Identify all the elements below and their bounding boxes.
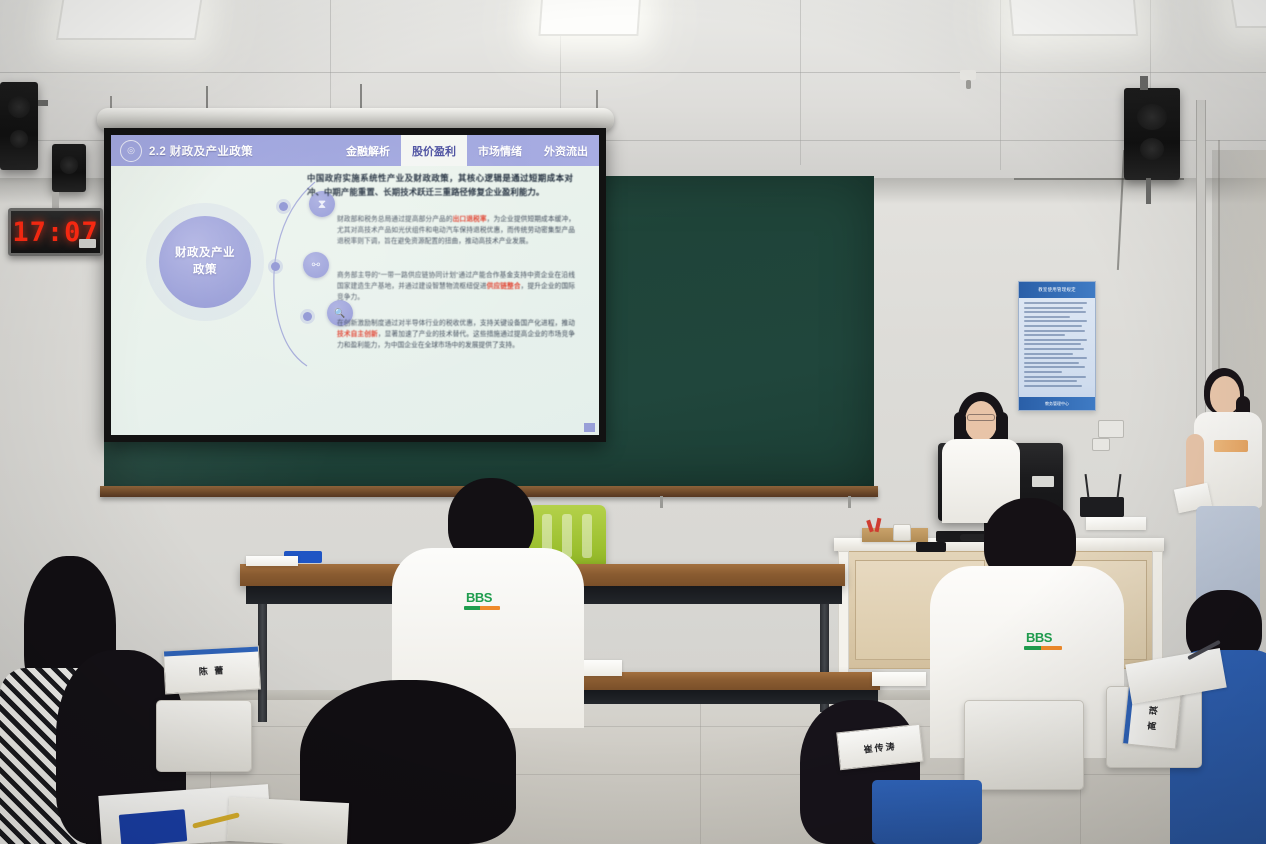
presenter-glasses-icon bbox=[967, 414, 995, 421]
chair-back-right[interactable] bbox=[964, 700, 1084, 790]
bbs-logo-underline bbox=[464, 606, 500, 610]
wall-speaker-left bbox=[0, 82, 38, 170]
name-card-left: 陈 蕾 bbox=[163, 646, 261, 695]
name-card-left-text: 陈 蕾 bbox=[198, 663, 225, 677]
notice-board-text-lines bbox=[1019, 298, 1095, 393]
para2-highlight: 供应链整合 bbox=[487, 283, 521, 290]
foreground-blue-book bbox=[119, 809, 188, 844]
name-card-center-text: 崔传涛 bbox=[863, 739, 897, 755]
center-circle-line2: 政策 bbox=[193, 264, 217, 276]
notice-board-footer: 教务管理中心 bbox=[1019, 397, 1095, 410]
para3-pre: 在创新激励制度通过对半导体行业的税收优惠，支持关键设备国产化进程，推动 bbox=[337, 320, 575, 327]
bbs-logo-underline bbox=[1024, 646, 1062, 650]
desk-paper bbox=[872, 672, 926, 686]
wall-speaker-right bbox=[1124, 88, 1180, 180]
bbs-logo-text: BBS bbox=[1026, 630, 1052, 645]
slide-logo-icon: ◎ bbox=[120, 140, 142, 162]
ceiling-light-panel bbox=[1229, 0, 1266, 28]
security-camera-arm bbox=[966, 80, 971, 89]
projection-screen: ◎ 2.2 财政及产业政策 金融解析 股价盈利 市场情绪 外资流出 财政及产业 … bbox=[104, 128, 606, 442]
slide-tab-bar: 金融解析 股价盈利 市场情绪 外资流出 bbox=[335, 135, 599, 166]
presentation-slide: ◎ 2.2 财政及产业政策 金融解析 股价盈利 市场情绪 外资流出 财政及产业 … bbox=[111, 135, 599, 435]
slide-section-title: 2.2 财政及产业政策 bbox=[149, 143, 253, 159]
slide-header: ◎ 2.2 财政及产业政策 金融解析 股价盈利 市场情绪 外资流出 bbox=[111, 135, 599, 166]
arc-node-dot bbox=[271, 262, 280, 271]
wall-control-plate[interactable] bbox=[1098, 420, 1124, 438]
wall-notice-board: 教室使用管理规定 教务管理中心 bbox=[1018, 281, 1096, 411]
arc-node-dot bbox=[279, 202, 288, 211]
shirt-print-icon bbox=[1214, 440, 1248, 452]
monitor-asset-tag bbox=[1032, 476, 1054, 487]
slide-tab-stock-profit[interactable]: 股价盈利 bbox=[401, 135, 467, 166]
slide-tab-financial-analysis[interactable]: 金融解析 bbox=[335, 135, 401, 166]
foreground-notebook bbox=[227, 797, 349, 844]
ceiling-light-panel bbox=[1008, 0, 1138, 36]
handshake-icon: ⚯ bbox=[303, 252, 329, 278]
ceiling-light-panel bbox=[538, 0, 641, 36]
classroom-scene: ◎ 2.2 财政及产业政策 金融解析 股价盈利 市场情绪 外资流出 财政及产业 … bbox=[0, 0, 1266, 844]
slide-paragraph-1: 财政部和税务总局通过提高部分产品的出口退税率，为企业提供短期成本缓冲，尤其对高技… bbox=[337, 214, 575, 247]
slide-corner-marker bbox=[584, 423, 595, 432]
wall-socket-plate[interactable] bbox=[1092, 438, 1110, 451]
chair-back-left[interactable] bbox=[156, 700, 252, 772]
chair-seat-right[interactable] bbox=[872, 780, 982, 844]
speaker-pole bbox=[1146, 178, 1151, 204]
presenter-head bbox=[965, 401, 997, 441]
slide-tab-market-sentiment[interactable]: 市场情绪 bbox=[467, 135, 533, 166]
clock-badge bbox=[79, 239, 96, 248]
speaker-bracket bbox=[38, 100, 48, 106]
para1-highlight: 出口退税率 bbox=[453, 216, 487, 223]
desk-paper bbox=[246, 556, 298, 566]
digital-wall-clock: 17:07 bbox=[8, 208, 103, 256]
slide-tab-capital-outflow[interactable]: 外资流出 bbox=[533, 135, 599, 166]
ledge-hook bbox=[660, 496, 663, 508]
slide-paragraph-3: 在创新激励制度通过对半导体行业的税收优惠，支持关键设备国产化进程，推动技术自主创… bbox=[337, 318, 575, 351]
ledge-hook bbox=[848, 496, 851, 508]
slide-paragraph-2: 商务部主导的“一带一路供应链协同计划”通过产能合作基金支持中资企业在沿线国家建造… bbox=[337, 270, 575, 303]
arc-node-dot bbox=[303, 312, 312, 321]
name-card-right-text: 高 琪 bbox=[1144, 703, 1160, 731]
para3-highlight: 技术自主创新 bbox=[337, 331, 378, 338]
security-camera bbox=[960, 70, 976, 80]
ceiling-light-panel bbox=[56, 0, 204, 40]
wall-speaker-left-lower bbox=[52, 144, 86, 192]
speaker-bracket bbox=[1140, 76, 1148, 90]
notice-board-header: 教室使用管理规定 bbox=[1019, 282, 1095, 298]
desk-cup bbox=[893, 524, 911, 541]
bbs-logo-text: BBS bbox=[466, 590, 492, 605]
center-circle-line1: 财政及产业 bbox=[175, 247, 235, 259]
para1-pre: 财政部和税务总局通过提高部分产品的 bbox=[337, 216, 453, 223]
slide-body: 财政及产业 政策 ⧗ ⚯ 🔍 中国政府实施系统性产业及财政政策，其核心逻辑是通过… bbox=[111, 166, 599, 435]
slide-lead-paragraph: 中国政府实施系统性产业及财政政策，其核心逻辑是通过短期成本对冲、中期产能重置、长… bbox=[307, 172, 573, 199]
